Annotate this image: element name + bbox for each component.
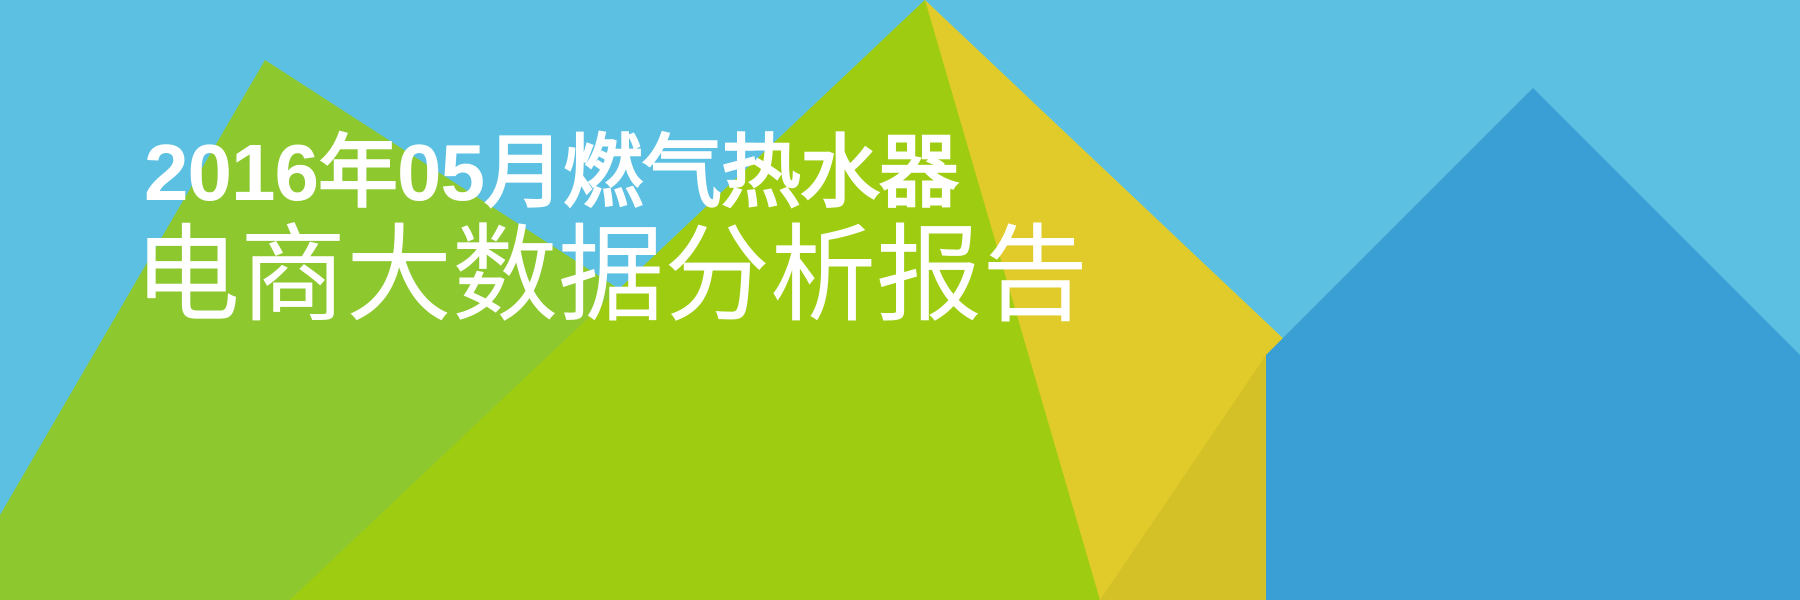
report-cover-banner: 2016年05月燃气热水器 电商大数据分析报告 [0,0,1800,600]
geometric-background [0,0,1800,600]
